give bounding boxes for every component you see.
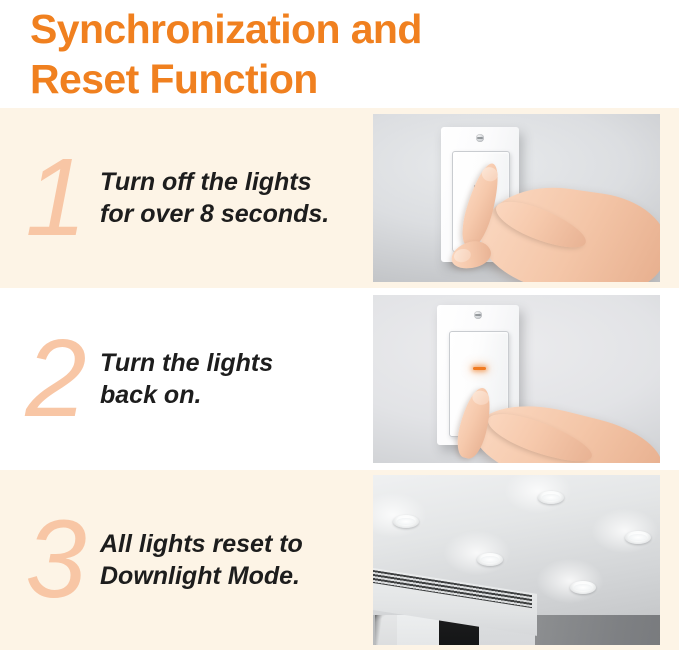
light-halo [592, 509, 658, 553]
light-halo [537, 559, 603, 603]
step-1-photo-panel [373, 108, 660, 288]
step-3-photo-panel [373, 470, 660, 650]
step-1-text-panel: 1 Turn off the lights for over 8 seconds… [0, 108, 373, 288]
downlight-lens [481, 556, 499, 563]
step-3-instruction: All lights reset to Downlight Mode. [100, 528, 303, 592]
thumbnail [453, 247, 473, 264]
ceiling-with-recessed-downlights-image [373, 475, 660, 645]
light-halo [444, 531, 510, 575]
downlight-trim [625, 531, 651, 544]
header: Synchronization and Reset Function [0, 0, 679, 108]
screw-icon [476, 134, 484, 142]
downlight-trim [477, 553, 503, 566]
hand-pressing-top-of-light-switch-image [373, 114, 660, 282]
led-indicator-icon [473, 367, 486, 370]
step-2-text-panel: 2 Turn the lights back on. [0, 288, 373, 470]
step-2-number: 2 [8, 324, 104, 434]
fingernail [480, 165, 499, 183]
step-3-text-panel: 3 All lights reset to Downlight Mode. [0, 470, 373, 650]
downlight-lens [629, 534, 647, 541]
step-row-2: 2 Turn the lights back on. [0, 288, 679, 470]
downlight-lens [542, 494, 560, 501]
step-row-1: 1 Turn off the lights for over 8 seconds… [0, 108, 679, 288]
hand-pressing-bottom-of-light-switch-image [373, 295, 660, 463]
step-3-number: 3 [8, 505, 104, 615]
step-1-number: 1 [8, 143, 104, 253]
step-2-instruction: Turn the lights back on. [100, 347, 273, 411]
downlight-lens [574, 584, 592, 591]
step-2-photo-panel [373, 288, 660, 470]
downlight-trim [538, 491, 564, 504]
downlight-trim [393, 515, 419, 528]
step-1-instruction: Turn off the lights for over 8 seconds. [100, 166, 329, 230]
instruction-infographic: Synchronization and Reset Function 1 Tur… [0, 0, 679, 650]
step-row-3: 3 All lights reset to Downlight Mode. [0, 470, 679, 650]
room-scene [373, 475, 660, 645]
page-title: Synchronization and Reset Function [30, 4, 679, 104]
downlight-lens [397, 518, 415, 525]
screw-icon [474, 311, 482, 319]
downlight-trim [570, 581, 596, 594]
